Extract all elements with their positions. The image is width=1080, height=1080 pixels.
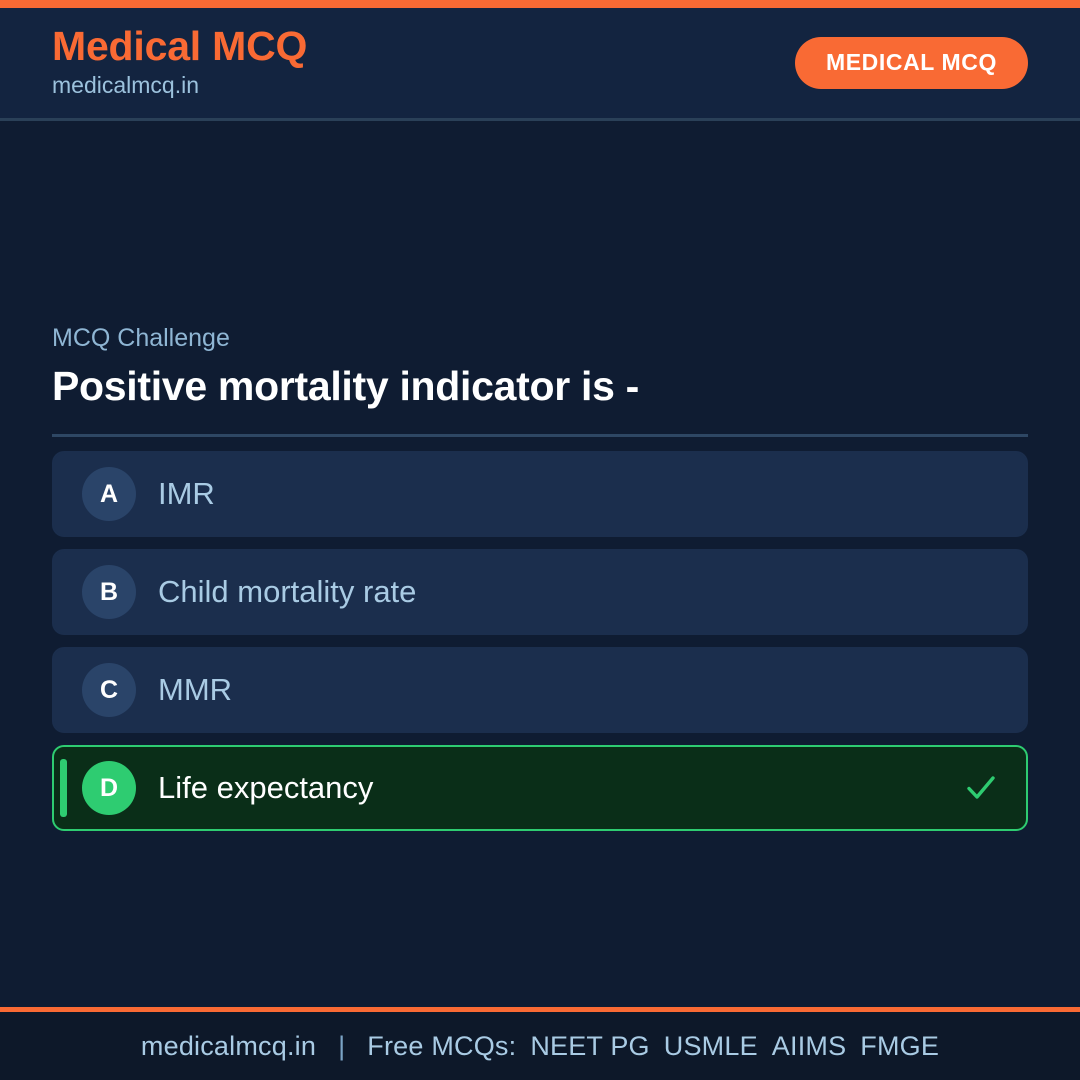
option-label: Life expectancy [158, 769, 962, 806]
top-accent-bar [0, 0, 1080, 8]
check-icon [962, 769, 1000, 807]
question-block: MCQ Challenge Positive mortality indicat… [52, 323, 1028, 437]
footer-exam-neet-pg: NEET PG [530, 1031, 649, 1062]
question-divider [52, 434, 1028, 437]
option-c[interactable]: C MMR [52, 647, 1028, 733]
option-d[interactable]: D Life expectancy [52, 745, 1028, 831]
brand: Medical MCQ medicalmcq.in [52, 25, 307, 101]
brand-subtitle: medicalmcq.in [52, 71, 307, 101]
footer-exam-aiims: AIIMS [772, 1031, 847, 1062]
option-letter-badge: D [82, 761, 136, 815]
option-label: IMR [158, 475, 1000, 512]
main-content: MCQ Challenge Positive mortality indicat… [0, 121, 1080, 1007]
option-a[interactable]: A IMR [52, 451, 1028, 537]
footer-site: medicalmcq.in [141, 1031, 316, 1062]
correct-accent-bar [60, 759, 67, 817]
mcq-card: Medical MCQ medicalmcq.in MEDICAL MCQ MC… [0, 0, 1080, 1080]
question-text: Positive mortality indicator is - [52, 362, 1028, 410]
footer-separator: | [338, 1031, 345, 1062]
footer-exam-usmle: USMLE [664, 1031, 758, 1062]
option-letter-badge: B [82, 565, 136, 619]
header-badge: MEDICAL MCQ [795, 37, 1028, 89]
options-list: A IMR B Child mortality rate C MMR D Lif… [52, 451, 1028, 831]
option-label: MMR [158, 671, 1000, 708]
footer: medicalmcq.in | Free MCQs: NEET PG USMLE… [0, 1007, 1080, 1080]
footer-exam-fmge: FMGE [860, 1031, 939, 1062]
option-letter-badge: A [82, 467, 136, 521]
option-label: Child mortality rate [158, 573, 1000, 610]
footer-prefix: Free MCQs: [367, 1031, 516, 1062]
option-b[interactable]: B Child mortality rate [52, 549, 1028, 635]
brand-title: Medical MCQ [52, 25, 307, 68]
header: Medical MCQ medicalmcq.in MEDICAL MCQ [0, 8, 1080, 121]
option-letter-badge: C [82, 663, 136, 717]
question-kicker: MCQ Challenge [52, 323, 1028, 353]
